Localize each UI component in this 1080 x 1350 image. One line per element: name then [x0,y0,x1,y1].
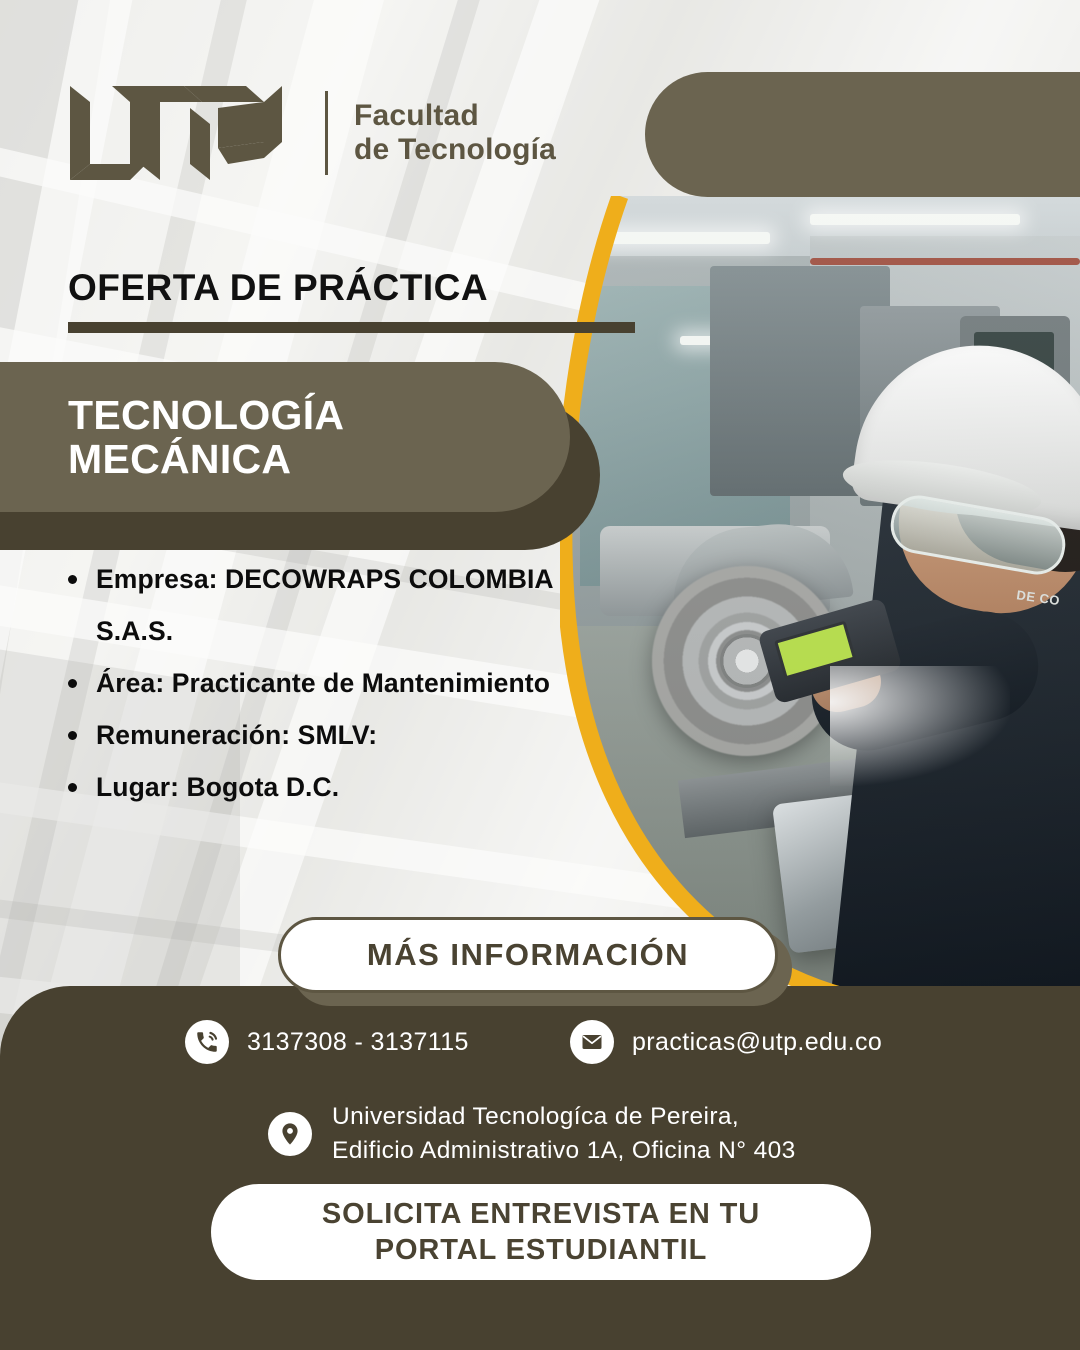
location-pin-icon [268,1112,312,1156]
contact-phone-row[interactable]: 3137308 - 3137115 [185,1020,469,1064]
poster-canvas: DE CO [0,0,1080,1350]
request-interview-button[interactable]: SOLICITA ENTREVISTA EN TU PORTAL ESTUDIA… [211,1184,871,1280]
address-text: Universidad Tecnologíca de Pereira, Edif… [332,1100,796,1168]
phone-number: 3137308 - 3137115 [247,1028,469,1057]
email-address: practicas@utp.edu.co [632,1028,882,1057]
phone-icon [185,1020,229,1064]
machine-shop-photo: DE CO [560,196,1080,1006]
faculty-name: Facultad de Tecnología [354,99,556,167]
program-name: TECNOLOGÍA MECÁNICA [0,393,344,482]
logo-divider [325,91,328,175]
envelope-icon [570,1020,614,1064]
contact-email-row[interactable]: practicas@utp.edu.co [570,1020,882,1064]
list-item: Empresa: DECOWRAPS COLOMBIA S.A.S. [62,553,562,657]
title-underline-rule [68,322,635,333]
request-interview-label: SOLICITA ENTREVISTA EN TU PORTAL ESTUDIA… [322,1196,760,1268]
more-info-button-label: MÁS INFORMACIÓN [367,937,689,973]
list-item: Lugar: Bogota D.C. [62,761,562,813]
utp-logo-mark [68,78,303,188]
offer-details-list: Empresa: DECOWRAPS COLOMBIA S.A.S. Área:… [62,553,562,813]
utp-logo: Facultad de Tecnología [68,78,556,188]
list-item: Remuneración: SMLV: [62,709,562,761]
footer-band [0,986,1080,1350]
page-title: OFERTA DE PRÁCTICA [68,267,488,309]
program-pill: TECNOLOGÍA MECÁNICA [0,362,570,512]
more-info-button[interactable]: MÁS INFORMACIÓN [278,917,778,993]
contact-address-row: Universidad Tecnologíca de Pereira, Edif… [268,1100,796,1168]
list-item: Área: Practicante de Mantenimiento [62,657,562,709]
top-right-accent-pill [645,72,1080,197]
